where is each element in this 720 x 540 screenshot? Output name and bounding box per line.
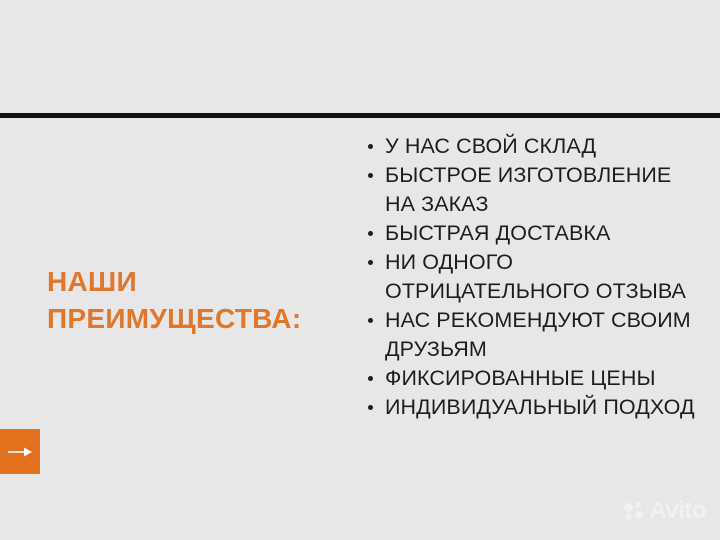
avito-watermark-label: Avito [649, 499, 706, 523]
list-item: У НАС СВОЙ СКЛАД [366, 132, 706, 161]
list-item: ФИКСИРОВАННЫЕ ЦЕНЫ [366, 364, 706, 393]
avito-dots-logo-icon [624, 502, 645, 521]
list-item-label: НИ ОДНОГО ОТРИЦАТЕЛЬНОГО ОТЗЫВА [385, 250, 686, 303]
arrow-right-icon [7, 445, 33, 459]
benefits-list: У НАС СВОЙ СКЛАД БЫСТРОЕ ИЗГОТОВЛЕНИЕ НА… [366, 132, 706, 422]
list-item-label: БЫСТРОЕ ИЗГОТОВЛЕНИЕ НА ЗАКАЗ [385, 163, 671, 216]
list-item-label: БЫСТРАЯ ДОСТАВКА [385, 221, 611, 245]
list-item-label: НАС РЕКОМЕНДУЮТ СВОИМ ДРУЗЬЯМ [385, 308, 691, 361]
top-divider-rule [0, 113, 720, 118]
list-item-label: ФИКСИРОВАННЫЕ ЦЕНЫ [385, 366, 656, 390]
list-item: НИ ОДНОГО ОТРИЦАТЕЛЬНОГО ОТЗЫВА [366, 248, 706, 306]
arrow-right-button[interactable] [0, 429, 40, 474]
list-item-label: ИНДИВИДУАЛЬНЫЙ ПОДХОД [385, 395, 695, 419]
list-item-label: У НАС СВОЙ СКЛАД [385, 134, 596, 158]
list-item: БЫСТРОЕ ИЗГОТОВЛЕНИЕ НА ЗАКАЗ [366, 161, 706, 219]
list-item: ИНДИВИДУАЛЬНЫЙ ПОДХОД [366, 393, 706, 422]
list-item: БЫСТРАЯ ДОСТАВКА [366, 219, 706, 248]
page-title: НАШИ ПРЕИМУЩЕСТВА: [47, 263, 357, 337]
slide-canvas: НАШИ ПРЕИМУЩЕСТВА: У НАС СВОЙ СКЛАД БЫСТ… [0, 0, 720, 540]
avito-watermark: Avito [624, 499, 706, 523]
list-item: НАС РЕКОМЕНДУЮТ СВОИМ ДРУЗЬЯМ [366, 306, 706, 364]
